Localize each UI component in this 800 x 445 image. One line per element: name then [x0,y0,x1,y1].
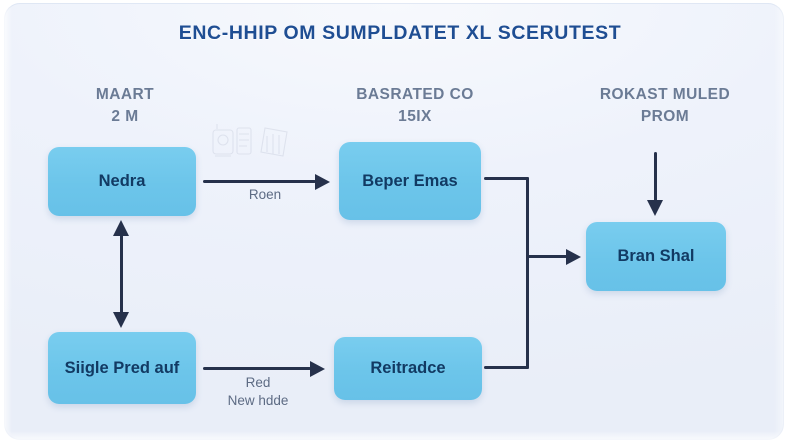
connector-siigle-to-reitradce-line [203,367,311,370]
connector-merge-spine [526,177,529,369]
sketch-watermark-icon [205,116,305,168]
column-header-maart-line2: 2 M [30,106,220,128]
node-bran-shal-line2: Shal [660,247,695,265]
node-nedra[interactable]: Nedra [48,147,196,216]
node-reitradce[interactable]: Reitradce [334,337,482,400]
node-siigle-pred-auf[interactable]: Siigle Pred auf [48,332,196,404]
column-header-rokast-muled: ROKAST MULED PROM [560,84,770,128]
connector-nedra-siigle-arrowhead-down-icon [113,312,129,328]
column-header-basrated-co-line1: BASRATED CO [356,86,473,103]
edge-fade-right [774,0,800,445]
node-nedra-line1: Nedra [99,172,146,190]
node-beper-emas-line1: Beper [362,172,409,190]
edge-fade-left [0,0,12,445]
edge-label-red-new-hdde-line1: Red [246,375,271,390]
node-siigle-pred-auf-line1: Siigle [65,359,109,377]
edge-label-roen: Roen [205,186,325,204]
node-reitradce-line1: Reitradce [370,359,445,377]
diagram-canvas: ENC-HHIP OM SUMPLDATET XL SCERUTEST MAAR… [0,0,800,445]
column-header-basrated-co-line2: 15IX [310,106,520,128]
node-siigle-pred-auf-line2: Pred auf [113,359,179,377]
connector-rokast-to-bran-arrowhead-icon [647,200,663,216]
column-header-maart-line1: MAART [96,86,154,103]
page-title: ENC-HHIP OM SUMPLDATET XL SCERUTEST [0,22,800,45]
connector-merge-to-bran-arrowhead-icon [566,249,581,265]
connector-nedra-siigle-arrowhead-up-icon [113,220,129,236]
edge-label-roen-line1: Roen [249,187,281,202]
connector-nedra-siigle-line [120,234,123,314]
column-header-rokast-muled-line1: ROKAST MULED [600,86,730,103]
node-bran-shal-line1: Bran [617,247,655,265]
node-beper-emas-line2: Emas [414,172,458,190]
column-header-basrated-co: BASRATED CO 15IX [310,84,520,128]
connector-nedra-to-beper-line [203,180,316,183]
connector-merge-top-branch [484,177,529,180]
column-header-rokast-muled-line2: PROM [560,106,770,128]
edge-label-red-new-hdde-line2: New hdde [196,392,320,410]
edge-label-red-new-hdde: Red New hdde [196,374,320,410]
connector-merge-bottom-branch [484,366,529,369]
node-beper-emas[interactable]: Beper Emas [339,142,481,220]
edge-fade-bottom [0,431,800,445]
connector-merge-to-bran-line [526,255,570,258]
node-bran-shal[interactable]: Bran Shal [586,222,726,291]
connector-rokast-to-bran-line [654,152,657,204]
column-header-maart: MAART 2 M [30,84,220,128]
